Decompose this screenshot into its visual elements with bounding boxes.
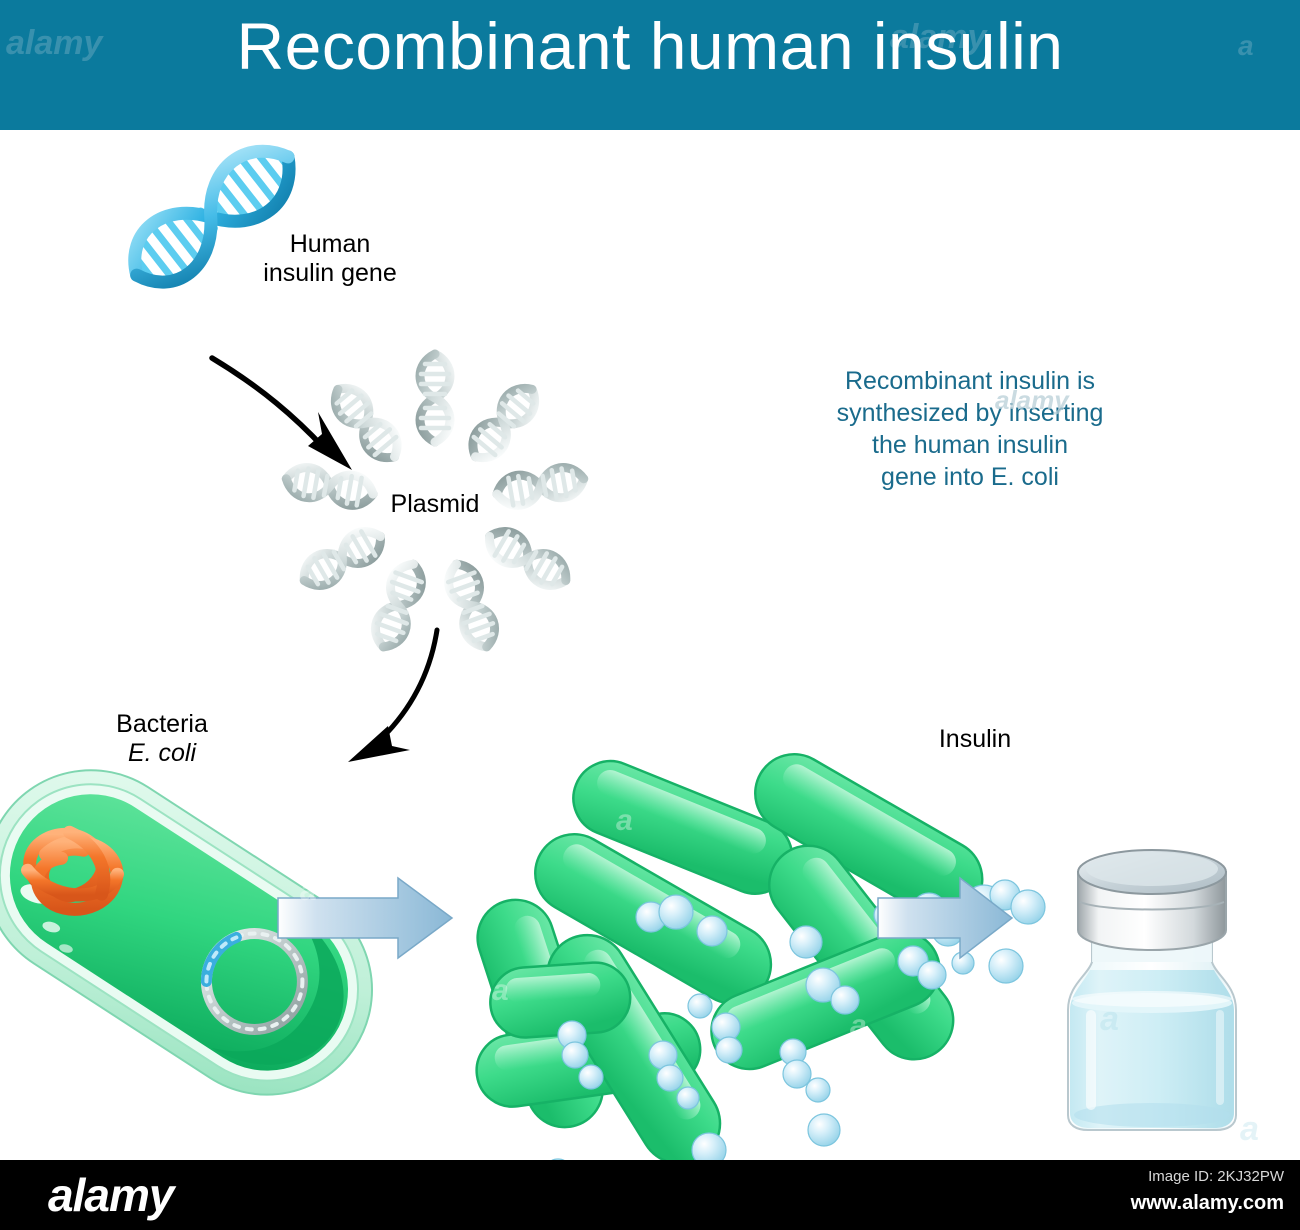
svg-text:a: a — [492, 974, 509, 1007]
svg-text:a: a — [300, 874, 317, 907]
svg-text:a: a — [630, 1149, 647, 1160]
arrow-gene-to-plasmid-icon — [212, 358, 352, 470]
diagram-canvas: a a a a a a a Human insulin gene Plasmid… — [0, 130, 1300, 1160]
footer-bar: alamy Image ID: 2KJ32PW www.alamy.com — [0, 1160, 1300, 1230]
explanatory-caption: Recombinant insulin is synthesized by in… — [780, 365, 1160, 493]
svg-text:a: a — [1240, 1110, 1259, 1148]
svg-text:a: a — [1100, 1000, 1119, 1038]
insulin-vial-illustration — [1068, 850, 1236, 1130]
human-insulin-gene-label-line2: insulin gene — [263, 259, 396, 287]
insulin-label: Insulin — [880, 725, 1070, 754]
human-insulin-gene-label-line1: Human — [290, 230, 371, 258]
diagram-page: alamy alamy a Recombinant human insulin — [0, 0, 1300, 1230]
caption-line-3: the human insulin — [872, 431, 1068, 459]
svg-text:a: a — [616, 804, 633, 837]
plasmid-label-text: Plasmid — [391, 490, 480, 518]
alamy-url-text: www.alamy.com — [1131, 1192, 1284, 1215]
caption-line-2: synthesized by inserting — [837, 399, 1104, 427]
bacteria-label-line1: Bacteria — [116, 710, 208, 738]
svg-text:a: a — [850, 1009, 867, 1042]
image-id-text: Image ID: 2KJ32PW — [1148, 1168, 1284, 1185]
alamy-logo: alamy — [48, 1168, 173, 1222]
diagram-artwork: a a a a a a a — [0, 130, 1300, 1160]
bacteria-label: Bacteria E. coli — [62, 710, 262, 768]
plasmid-label: Plasmid — [365, 490, 505, 519]
page-title: Recombinant human insulin — [0, 12, 1300, 81]
bacteria-label-line2: E. coli — [128, 739, 196, 767]
arrow-plasmid-to-bacteria-icon — [348, 630, 437, 762]
insulin-label-text: Insulin — [939, 725, 1011, 753]
header-banner: alamy alamy a Recombinant human insulin — [0, 0, 1300, 130]
human-insulin-gene-label: Human insulin gene — [200, 230, 460, 288]
caption-line-4: gene into E. coli — [881, 463, 1059, 491]
caption-line-1: Recombinant insulin is — [845, 367, 1095, 395]
